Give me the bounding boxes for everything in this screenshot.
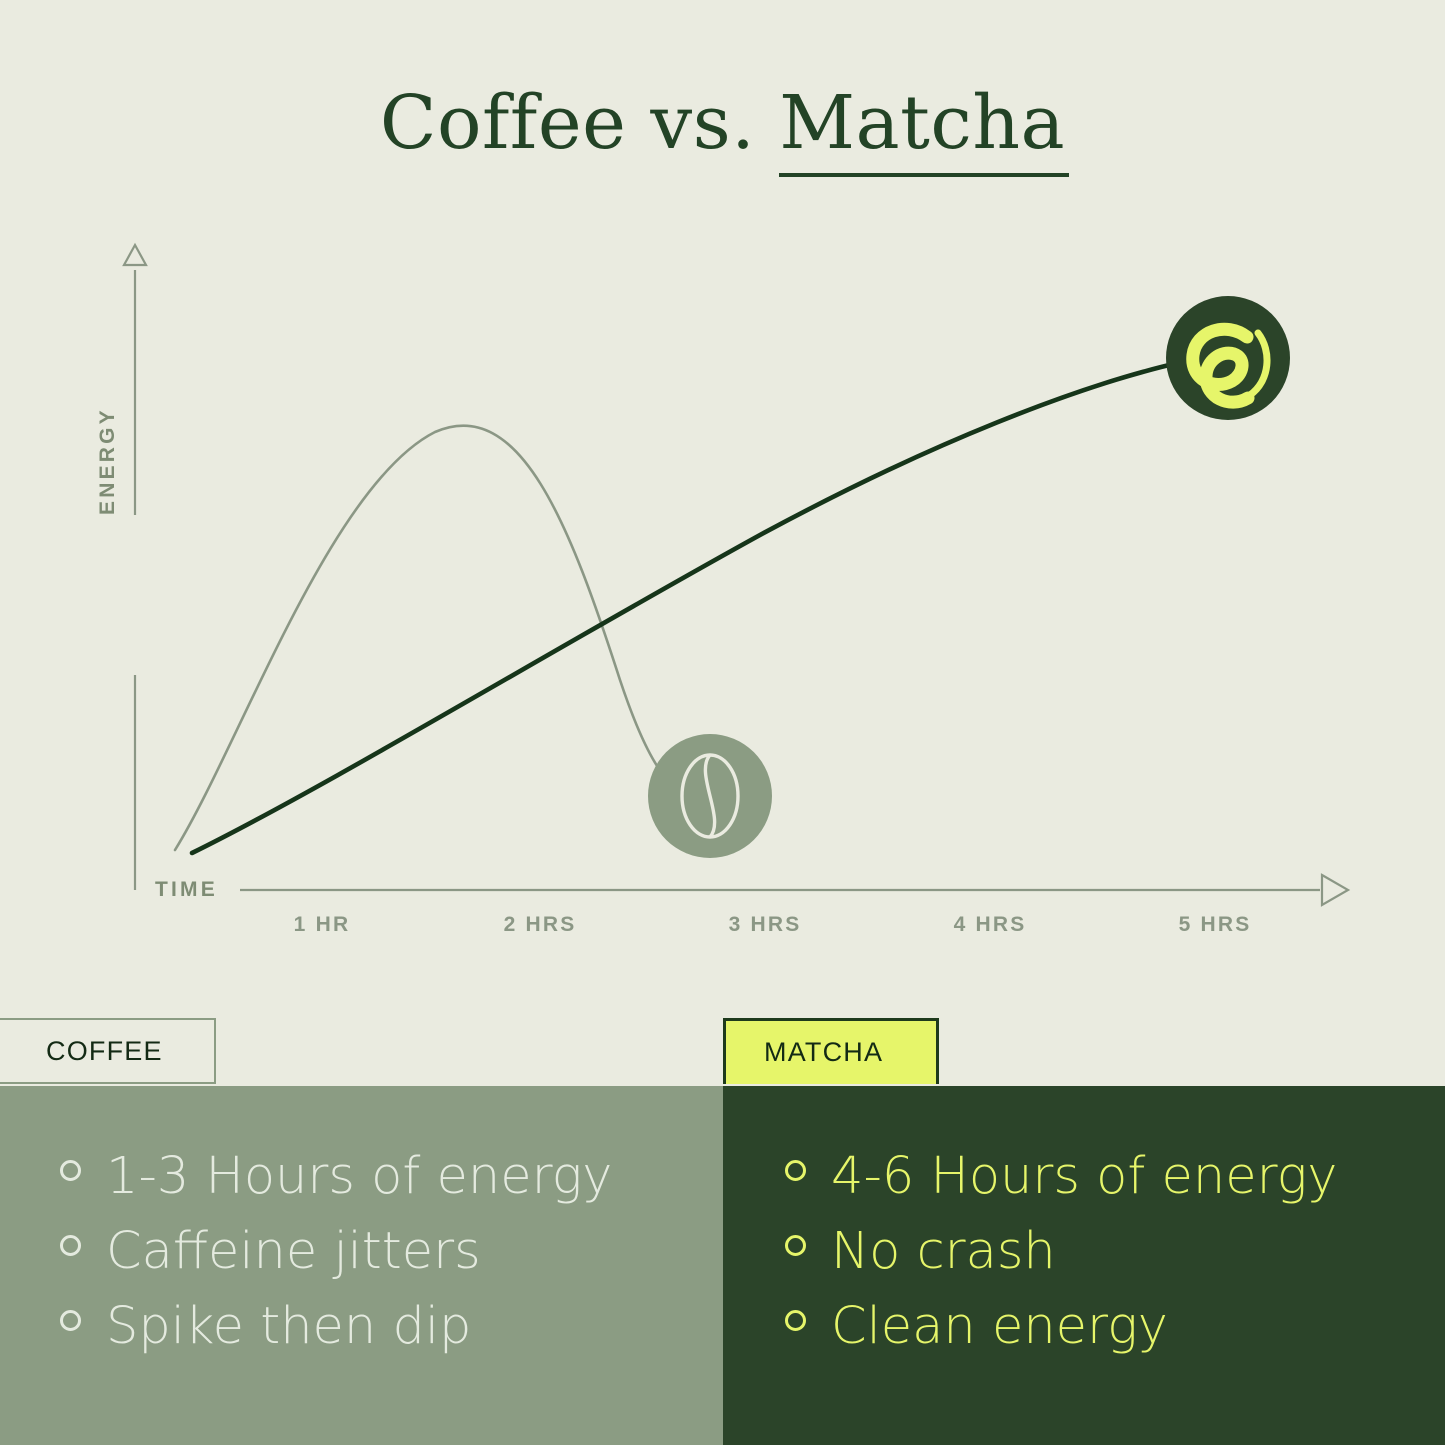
x-tick-2: 2 HRS	[504, 913, 577, 937]
list-item: 4-6 Hours of energy	[785, 1140, 1445, 1215]
coffee-energy-curve	[175, 426, 706, 850]
list-item-label: 1-3 Hours of energy	[106, 1140, 612, 1215]
bullet-circle-icon	[60, 1310, 81, 1331]
matcha-bullet-list: 4-6 Hours of energy No crash Clean energ…	[785, 1140, 1445, 1365]
list-item: Caffeine jitters	[60, 1215, 723, 1290]
list-item-label: No crash	[831, 1215, 1056, 1290]
page-title: Coffee vs. Matcha	[0, 86, 1445, 160]
title-text: Coffee vs. Matcha	[380, 86, 1065, 160]
chart-svg	[0, 225, 1445, 965]
list-item: No crash	[785, 1215, 1445, 1290]
tab-matcha[interactable]: MATCHA	[723, 1018, 939, 1084]
coffee-panel: 1-3 Hours of energy Caffeine jitters Spi…	[0, 1086, 723, 1445]
coffee-bullet-list: 1-3 Hours of energy Caffeine jitters Spi…	[60, 1140, 723, 1365]
y-axis-arrow-icon	[124, 245, 146, 265]
list-item-label: Spike then dip	[106, 1290, 471, 1365]
comparison-panels: 1-3 Hours of energy Caffeine jitters Spi…	[0, 1086, 1445, 1445]
infographic-page: Coffee vs. Matcha	[0, 0, 1445, 1445]
coffee-bean-marker[interactable]	[648, 734, 772, 858]
matcha-panel: 4-6 Hours of energy No crash Clean energ…	[723, 1086, 1445, 1445]
tab-coffee[interactable]: COFFEE	[0, 1018, 216, 1084]
title-prefix: Coffee vs.	[380, 80, 779, 166]
x-tick-5: 5 HRS	[1179, 913, 1252, 937]
x-axis-label: TIME	[155, 878, 218, 902]
x-axis-arrow-icon	[1322, 875, 1348, 905]
list-item-label: 4-6 Hours of energy	[831, 1140, 1337, 1215]
list-item: Clean energy	[785, 1290, 1445, 1365]
bullet-circle-icon	[785, 1160, 806, 1181]
bullet-circle-icon	[60, 1235, 81, 1256]
bullet-circle-icon	[785, 1310, 806, 1331]
x-tick-1: 1 HR	[294, 913, 351, 937]
y-axis-label: ENERGY	[96, 407, 120, 515]
comparison-tabs: COFFEE MATCHA	[0, 1018, 1445, 1086]
list-item-label: Caffeine jitters	[106, 1215, 481, 1290]
bullet-circle-icon	[60, 1160, 81, 1181]
x-tick-3: 3 HRS	[729, 913, 802, 937]
energy-curve-chart: ENERGY TIME 1 HR 2 HRS 3 HRS 4 HRS 5 HRS	[0, 225, 1445, 965]
x-tick-4: 4 HRS	[954, 913, 1027, 937]
bullet-circle-icon	[785, 1235, 806, 1256]
matcha-logo-marker[interactable]	[1166, 296, 1290, 420]
list-item: 1-3 Hours of energy	[60, 1140, 723, 1215]
title-highlight: Matcha	[779, 86, 1065, 160]
list-item: Spike then dip	[60, 1290, 723, 1365]
list-item-label: Clean energy	[831, 1290, 1168, 1365]
